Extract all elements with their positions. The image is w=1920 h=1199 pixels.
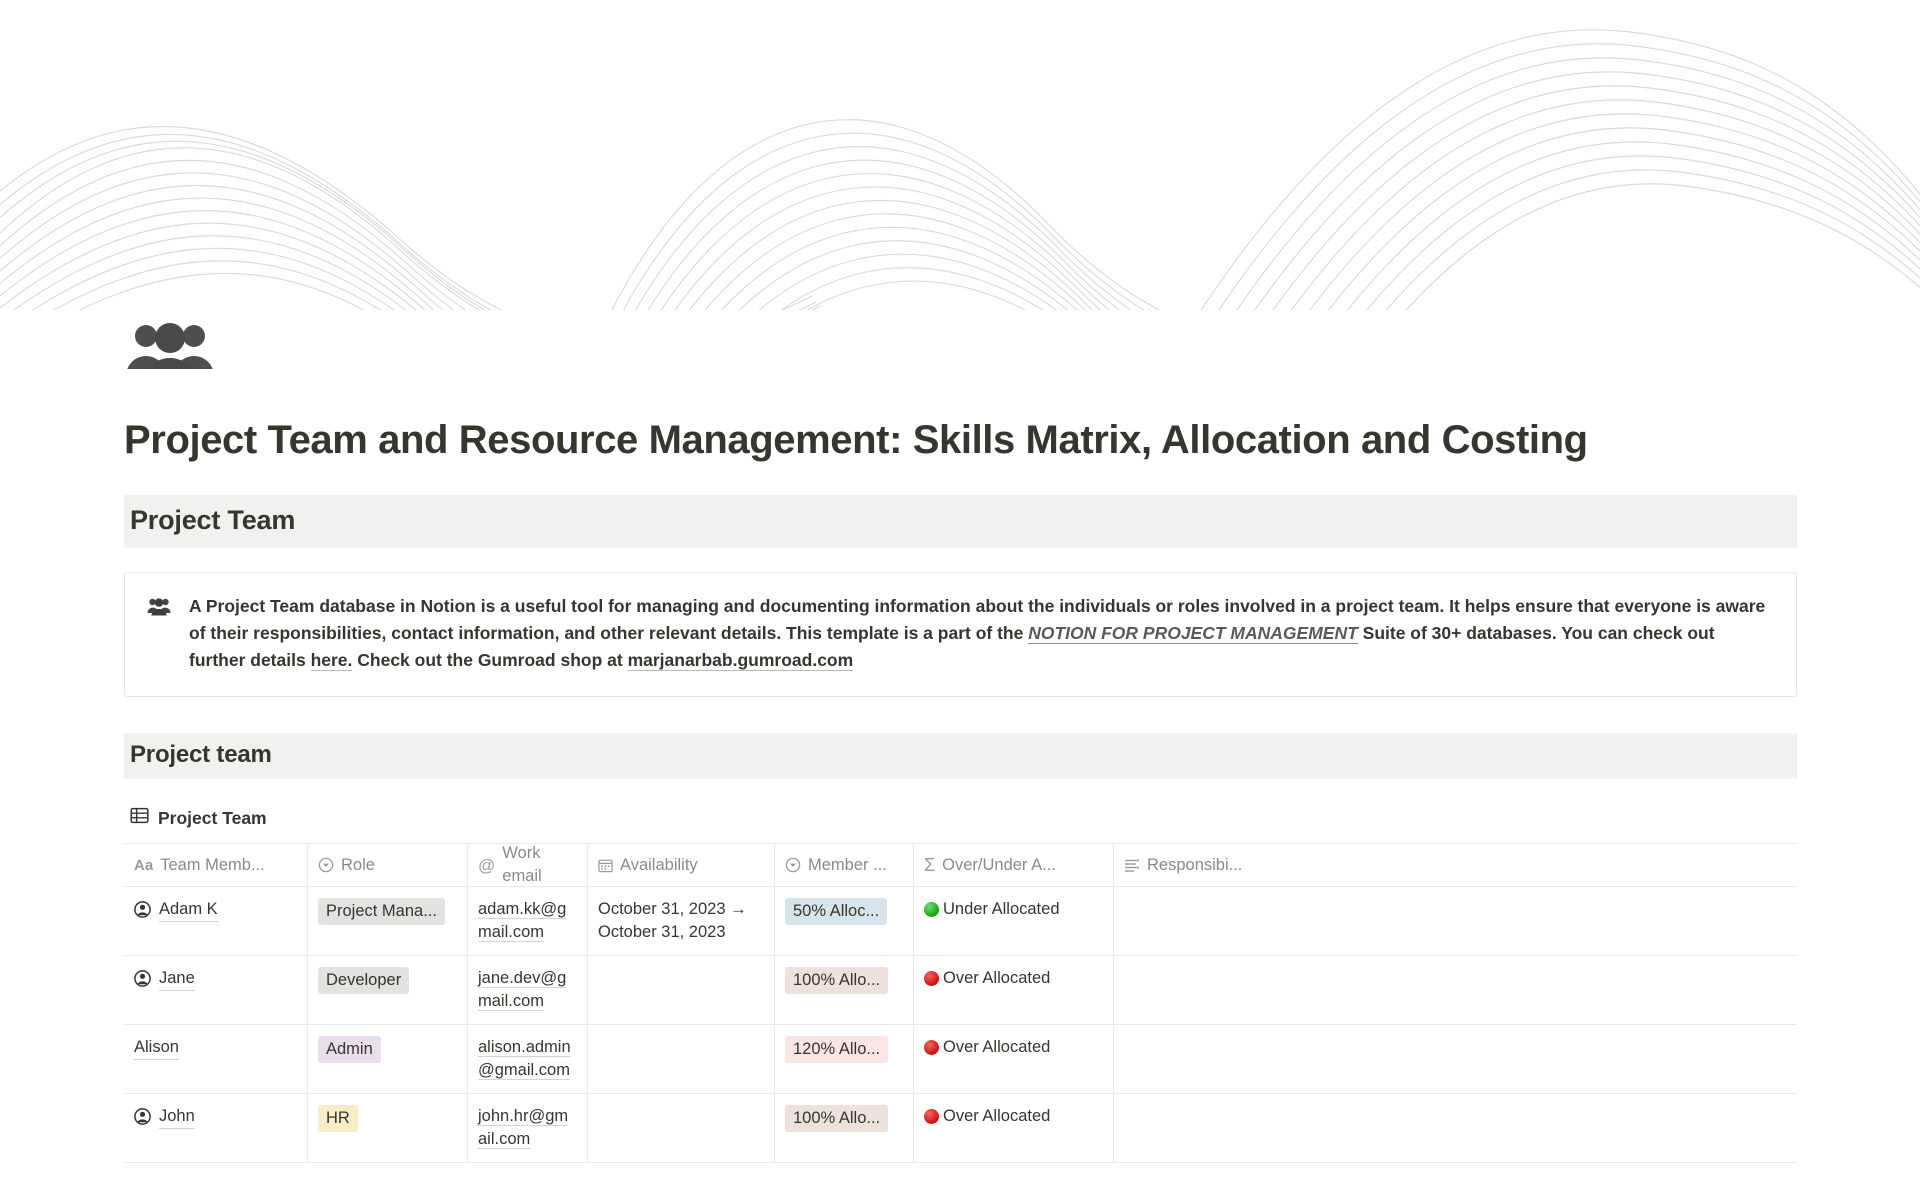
cell-work-email[interactable]: john.hr@gmail.com <box>468 1094 588 1162</box>
link-notion-for-project-management[interactable]: NOTION FOR PROJECT MANAGEMENT <box>1028 623 1358 644</box>
cell-role[interactable]: Project Mana... <box>308 887 468 955</box>
column-header-member-allocation[interactable]: Member ... <box>775 844 914 886</box>
team-member-name: Alison <box>134 1036 179 1060</box>
role-pill: Admin <box>318 1036 381 1063</box>
cell-work-email[interactable]: alison.admin@gmail.com <box>468 1025 588 1093</box>
over-under-status: Over Allocated <box>943 1105 1050 1128</box>
page-icon-people-group <box>124 320 216 369</box>
column-header-work-email[interactable]: @ Work email <box>468 844 588 886</box>
cell-role[interactable]: HR <box>308 1094 468 1162</box>
cell-work-email[interactable]: adam.kk@gmail.com <box>468 887 588 955</box>
column-header-responsibilities[interactable]: Responsibi... <box>1114 844 1797 886</box>
cell-availability[interactable]: October 31, 2023 → October 31, 2023 <box>588 887 775 955</box>
work-email: alison.admin@gmail.com <box>478 1038 571 1080</box>
cell-team-member[interactable]: Alison <box>124 1025 308 1093</box>
database-title: Project Team <box>158 808 267 829</box>
cell-over-under-allocation[interactable]: Under Allocated <box>914 887 1114 955</box>
allocation-pill: 120% Allo... <box>785 1036 888 1063</box>
column-header-team-member[interactable]: Aa Team Memb... <box>124 844 308 886</box>
role-pill: Project Mana... <box>318 898 445 925</box>
project-team-table: Aa Team Memb... Role @ Work email <box>124 843 1797 1163</box>
cell-member-allocation[interactable]: 100% Allo... <box>775 1094 914 1162</box>
avatar <box>134 898 151 925</box>
cell-responsibilities[interactable] <box>1114 956 1797 1024</box>
column-header-role[interactable]: Role <box>308 844 468 886</box>
callout-text: A Project Team database in Notion is a u… <box>189 593 1772 674</box>
page-title: Project Team and Resource Management: Sk… <box>124 415 1796 465</box>
status-dot <box>924 902 939 917</box>
cell-team-member[interactable]: Adam K <box>124 887 308 955</box>
info-callout: A Project Team database in Notion is a u… <box>124 572 1797 697</box>
cell-over-under-allocation[interactable]: Over Allocated <box>914 956 1114 1024</box>
cell-member-allocation[interactable]: 100% Allo... <box>775 956 914 1024</box>
calendar-icon <box>598 858 613 873</box>
work-email: john.hr@gmail.com <box>478 1107 568 1149</box>
select-circle-icon <box>318 857 334 873</box>
work-email: adam.kk@gmail.com <box>478 900 566 942</box>
role-pill: HR <box>318 1105 358 1132</box>
section-heading-project-team-sub: Project team <box>124 733 1797 779</box>
wave-pattern-decoration <box>0 0 1920 310</box>
status-dot <box>924 971 939 986</box>
cell-member-allocation[interactable]: 50% Alloc... <box>775 887 914 955</box>
link-here[interactable]: here. <box>311 650 353 671</box>
team-member-name: John <box>159 1105 195 1129</box>
cell-team-member[interactable]: John <box>124 1094 308 1162</box>
cell-role[interactable]: Admin <box>308 1025 468 1093</box>
allocation-pill: 50% Alloc... <box>785 898 887 925</box>
status-dot <box>924 1040 939 1055</box>
table-row[interactable]: JohnHRjohn.hr@gmail.com100% Allo...Over … <box>124 1094 1797 1162</box>
over-under-status: Over Allocated <box>943 1036 1050 1059</box>
over-under-status: Over Allocated <box>943 967 1050 990</box>
column-header-label: Availability <box>620 854 698 877</box>
availability-value: October 31, 2023 → October 31, 2023 <box>598 900 747 941</box>
team-member-name: Adam K <box>159 898 218 922</box>
avatar <box>134 1105 151 1132</box>
cell-work-email[interactable]: jane.dev@gmail.com <box>468 956 588 1024</box>
callout-part3: Check out the Gumroad shop at <box>352 650 627 670</box>
table-icon <box>130 806 149 830</box>
page-cover-banner <box>0 0 1920 369</box>
over-under-status: Under Allocated <box>943 898 1060 921</box>
cell-member-allocation[interactable]: 120% Allo... <box>775 1025 914 1093</box>
role-pill: Developer <box>318 967 409 994</box>
cell-over-under-allocation[interactable]: Over Allocated <box>914 1025 1114 1093</box>
status-dot <box>924 1109 939 1124</box>
cell-responsibilities[interactable] <box>1114 1094 1797 1162</box>
sigma-icon: Σ <box>924 854 935 877</box>
column-header-label: Member ... <box>808 854 887 877</box>
link-gumroad-shop[interactable]: marjanarbab.gumroad.com <box>628 650 854 671</box>
cell-responsibilities[interactable] <box>1114 887 1797 955</box>
table-header-row: Aa Team Memb... Role @ Work email <box>124 844 1797 887</box>
column-header-label: Role <box>341 854 375 877</box>
text-lines-icon <box>1124 858 1140 872</box>
team-member-name: Jane <box>159 967 195 991</box>
table-row[interactable]: JaneDeveloperjane.dev@gmail.com100% Allo… <box>124 956 1797 1025</box>
cell-availability[interactable] <box>588 956 775 1024</box>
cell-availability[interactable] <box>588 1025 775 1093</box>
text-aa-icon: Aa <box>134 854 153 877</box>
database-title-row[interactable]: Project Team <box>124 801 1796 835</box>
avatar <box>134 967 151 994</box>
at-sign-icon: @ <box>478 854 495 877</box>
column-header-label: Over/Under A... <box>942 854 1056 877</box>
cell-team-member[interactable]: Jane <box>124 956 308 1024</box>
cell-responsibilities[interactable] <box>1114 1025 1797 1093</box>
table-row[interactable]: AlisonAdminalison.admin@gmail.com120% Al… <box>124 1025 1797 1094</box>
cell-role[interactable]: Developer <box>308 956 468 1024</box>
people-group-icon <box>147 593 171 622</box>
column-header-label: Team Memb... <box>160 854 265 877</box>
column-header-label: Responsibi... <box>1147 854 1242 877</box>
column-header-label: Work email <box>502 844 577 886</box>
cell-over-under-allocation[interactable]: Over Allocated <box>914 1094 1114 1162</box>
column-header-over-under-allocation[interactable]: Σ Over/Under A... <box>914 844 1114 886</box>
work-email: jane.dev@gmail.com <box>478 969 566 1011</box>
allocation-pill: 100% Allo... <box>785 1105 888 1132</box>
column-header-availability[interactable]: Availability <box>588 844 775 886</box>
table-row[interactable]: Adam KProject Mana...adam.kk@gmail.comOc… <box>124 887 1797 956</box>
cell-availability[interactable] <box>588 1094 775 1162</box>
allocation-pill: 100% Allo... <box>785 967 888 994</box>
select-circle-icon <box>785 857 801 873</box>
section-heading-project-team: Project Team <box>124 495 1797 548</box>
